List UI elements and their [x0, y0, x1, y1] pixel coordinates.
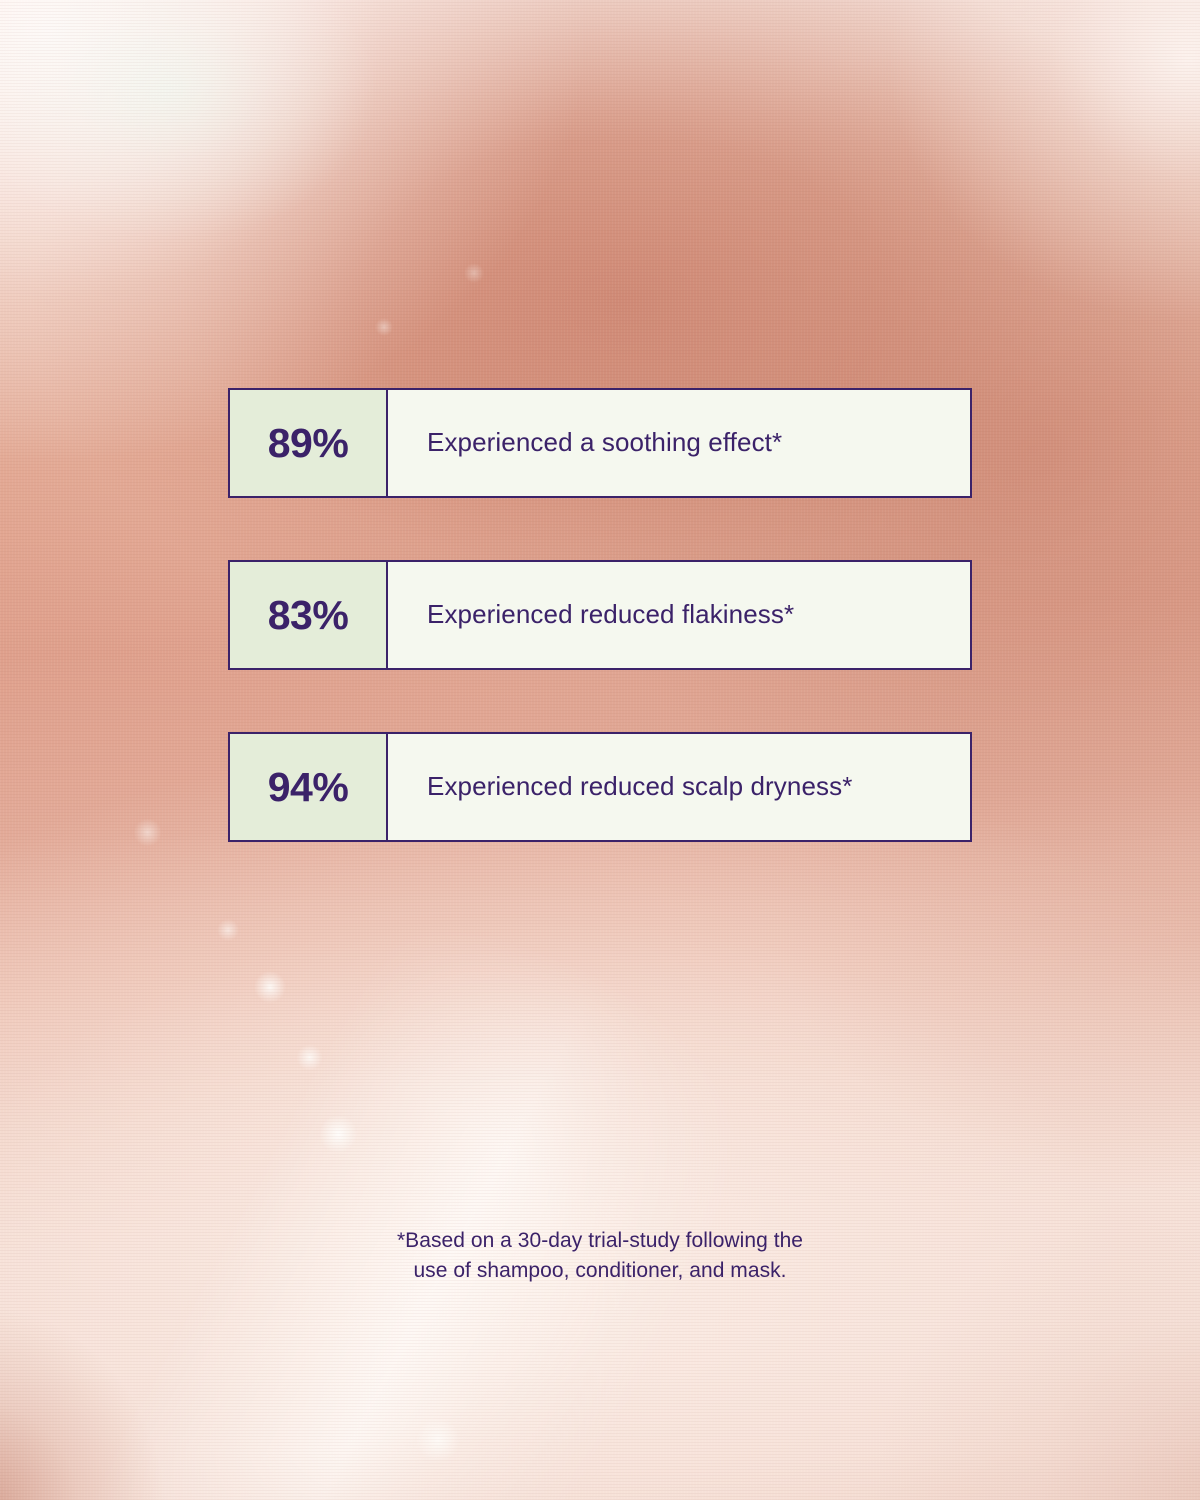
stat-label-cell: Experienced reduced flakiness*: [388, 562, 970, 668]
stat-label: Experienced reduced scalp dryness*: [427, 772, 852, 802]
stat-value: 89%: [268, 423, 349, 464]
stat-card: 94% Experienced reduced scalp dryness*: [228, 732, 972, 842]
stat-card: 83% Experienced reduced flakiness*: [228, 560, 972, 670]
stat-card-list: 89% Experienced a soothing effect* 83% E…: [228, 388, 972, 842]
stat-value-cell: 89%: [230, 390, 388, 496]
infographic-canvas: 89% Experienced a soothing effect* 83% E…: [0, 0, 1200, 1500]
stat-label: Experienced a soothing effect*: [427, 428, 782, 458]
footnote-disclaimer: *Based on a 30-day trial-study following…: [0, 1226, 1200, 1286]
footnote-line-1: *Based on a 30-day trial-study following…: [0, 1226, 1200, 1256]
stat-label-cell: Experienced a soothing effect*: [388, 390, 970, 496]
stat-value: 94%: [268, 767, 349, 808]
stat-label-cell: Experienced reduced scalp dryness*: [388, 734, 970, 840]
stat-card: 89% Experienced a soothing effect*: [228, 388, 972, 498]
stat-value-cell: 94%: [230, 734, 388, 840]
stat-value: 83%: [268, 595, 349, 636]
stat-label: Experienced reduced flakiness*: [427, 600, 794, 630]
footnote-line-2: use of shampoo, conditioner, and mask.: [0, 1256, 1200, 1286]
stat-value-cell: 83%: [230, 562, 388, 668]
